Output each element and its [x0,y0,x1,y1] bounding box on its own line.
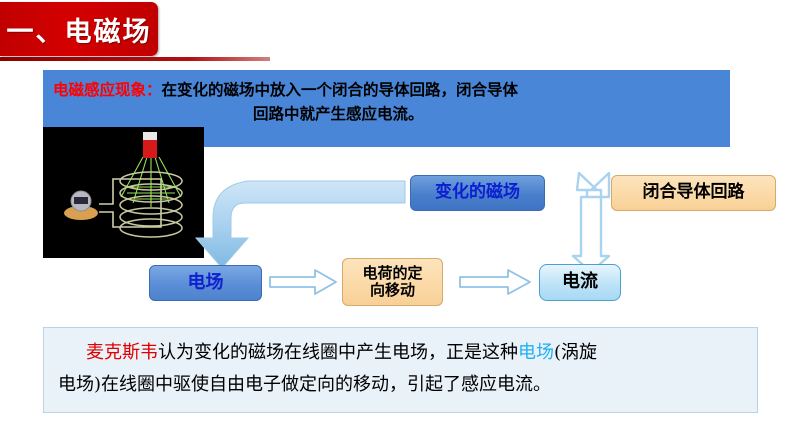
induction-demo-drawing [43,127,204,258]
induction-demo-animation[interactable] [43,127,204,258]
definition-line-1-text: 在变化的磁场中放入一个闭合的导体回路，闭合导体 [162,81,519,99]
node-closed-conductor-circuit-label: 闭合导体回路 [643,183,745,202]
definition-term: 电磁感应现象 [53,81,146,99]
node-closed-conductor-circuit[interactable]: 闭合导体回路 [611,175,776,211]
title-underline-rule [0,57,270,61]
section-title-badge: 一、电磁场 [0,2,158,56]
node-directed-charge-motion[interactable]: 电荷的定 向移动 [342,258,443,306]
explanation-callout: 麦克斯韦认为变化的磁场在线圈中产生电场，正是这种电场(涡旋 电场)在线圈中驱使自… [43,327,758,413]
definition-line-2: 回路中就产生感应电流。 [53,102,720,126]
bent-arrow-to-electric-field [196,181,405,268]
page-title: 一、电磁场 [7,10,152,49]
scientist-name: 麦克斯韦 [86,342,158,363]
explanation-line-1: 麦克斯韦认为变化的磁场在线圈中产生电场，正是这种电场(涡旋 [58,337,743,369]
definition-colon: ： [146,81,162,99]
arrow-charge-to-current [460,270,530,294]
node-changing-magnetic-field[interactable]: 变化的磁场 [410,175,545,211]
explanation-line-1-text: 认为变化的磁场在线圈中产生电场，正是这种 [158,342,518,363]
galvanometer-dial [74,197,88,204]
node-directed-charge-motion-label-line1: 电荷的定 [362,265,422,282]
arrow-field-to-charge [270,270,336,294]
explanation-line-1-tail: (涡旋 [554,342,597,363]
magnet-south-pole [143,140,157,158]
node-electric-current-label: 电流 [562,272,598,292]
definition-line-1: 电磁感应现象：在变化的磁场中放入一个闭合的导体回路，闭合导体 [53,78,720,102]
node-electric-field[interactable]: 电场 [149,265,262,301]
node-changing-magnetic-field-label: 变化的磁场 [435,183,520,202]
three-way-arrow [573,173,609,272]
node-electric-current[interactable]: 电流 [539,264,621,301]
explanation-highlight-term: 电场 [518,342,554,363]
magnet-north-pole [143,132,157,140]
node-directed-charge-motion-label-line2: 向移动 [362,282,422,299]
node-electric-field-label: 电场 [188,273,224,293]
explanation-line-2: 电场)在线圈中驱使自由电子做定向的移动，引起了感应电流。 [58,369,743,401]
